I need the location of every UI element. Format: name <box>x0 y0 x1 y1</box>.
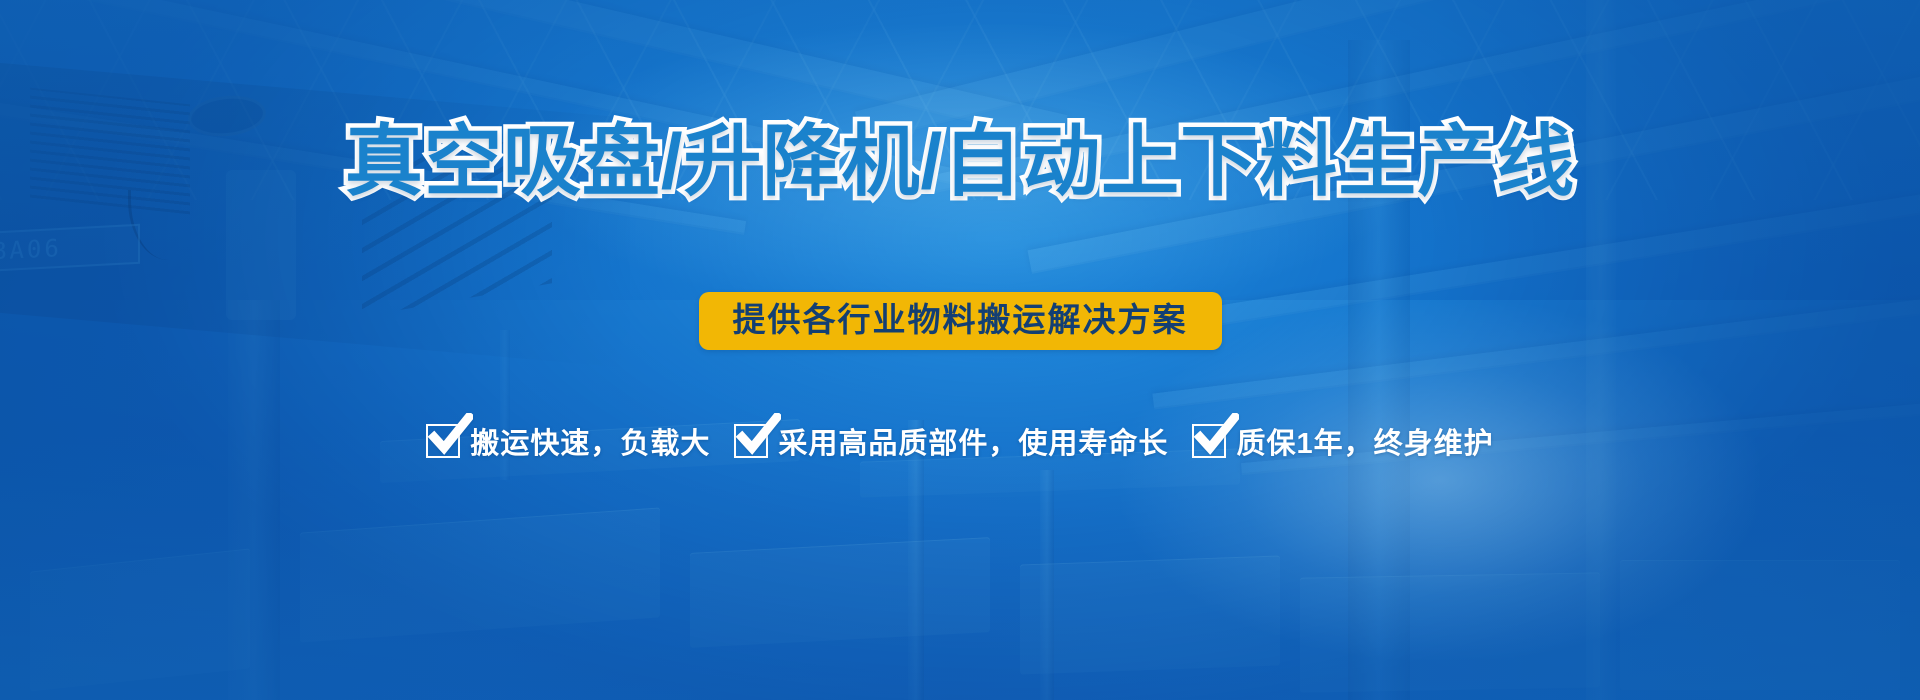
banner-subtitle-badge: 提供各行业物料搬运解决方案 <box>699 292 1222 350</box>
feature-label: 搬运快速，负载大 <box>470 420 710 462</box>
promo-banner: BA06 真空吸盘/升降机/自动上下料生产线 提供各行业物料搬运解决方案 搬运快… <box>0 0 1920 700</box>
feature-item-3: 质保1年，终身维护 <box>1192 420 1493 462</box>
checkbox-check-icon <box>734 424 768 458</box>
checkbox-check-icon <box>1192 424 1226 458</box>
feature-list: 搬运快速，负载大 采用高品质部件，使用寿命长 质保1年，终身维护 <box>0 420 1920 462</box>
checkbox-check-icon <box>426 424 460 458</box>
feature-item-1: 搬运快速，负载大 <box>426 420 710 462</box>
feature-label: 采用高品质部件，使用寿命长 <box>778 420 1168 462</box>
feature-item-2: 采用高品质部件，使用寿命长 <box>734 420 1168 462</box>
banner-title: 真空吸盘/升降机/自动上下料生产线 <box>0 122 1920 200</box>
banner-subtitle-row: 提供各行业物料搬运解决方案 <box>0 292 1920 350</box>
banner-content: 真空吸盘/升降机/自动上下料生产线 提供各行业物料搬运解决方案 搬运快速，负载大 <box>0 0 1920 700</box>
feature-label: 质保1年，终身维护 <box>1236 420 1493 462</box>
